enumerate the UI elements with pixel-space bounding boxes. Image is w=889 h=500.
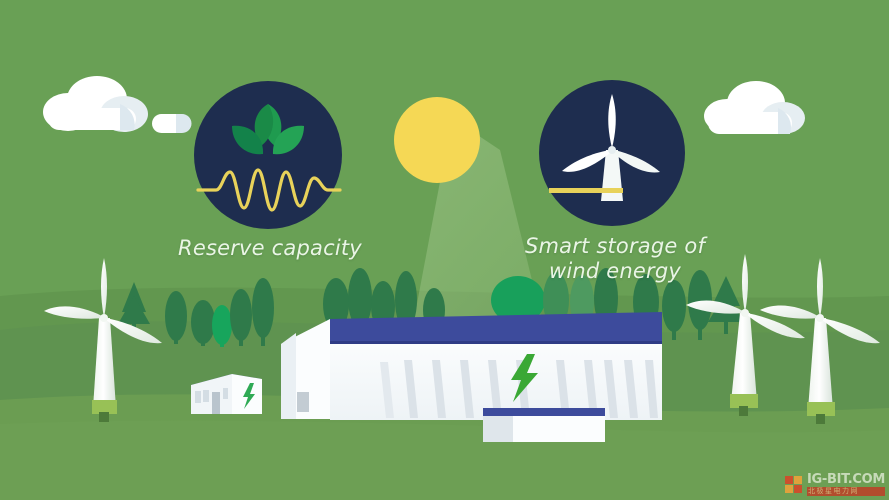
illustration-canvas: Reserve capacity Smart storage of wind e… (0, 0, 889, 500)
ig-bit-watermark: IG-BIT.COM 北极星电力网 (785, 473, 885, 496)
smart-storage-label: Smart storage of wind energy (500, 234, 730, 284)
watermark-subtitle: 北极星电力网 (807, 487, 885, 496)
gold-bar-icon (549, 188, 623, 193)
reserve-capacity-label: Reserve capacity (155, 236, 385, 261)
smart-storage-circle[interactable] (539, 80, 685, 226)
ig-bit-logo-icon (785, 475, 804, 494)
icon-badges-layer (0, 0, 889, 500)
reserve-capacity-circle[interactable] (194, 81, 342, 229)
watermark-title: IG-BIT.COM (807, 473, 885, 486)
